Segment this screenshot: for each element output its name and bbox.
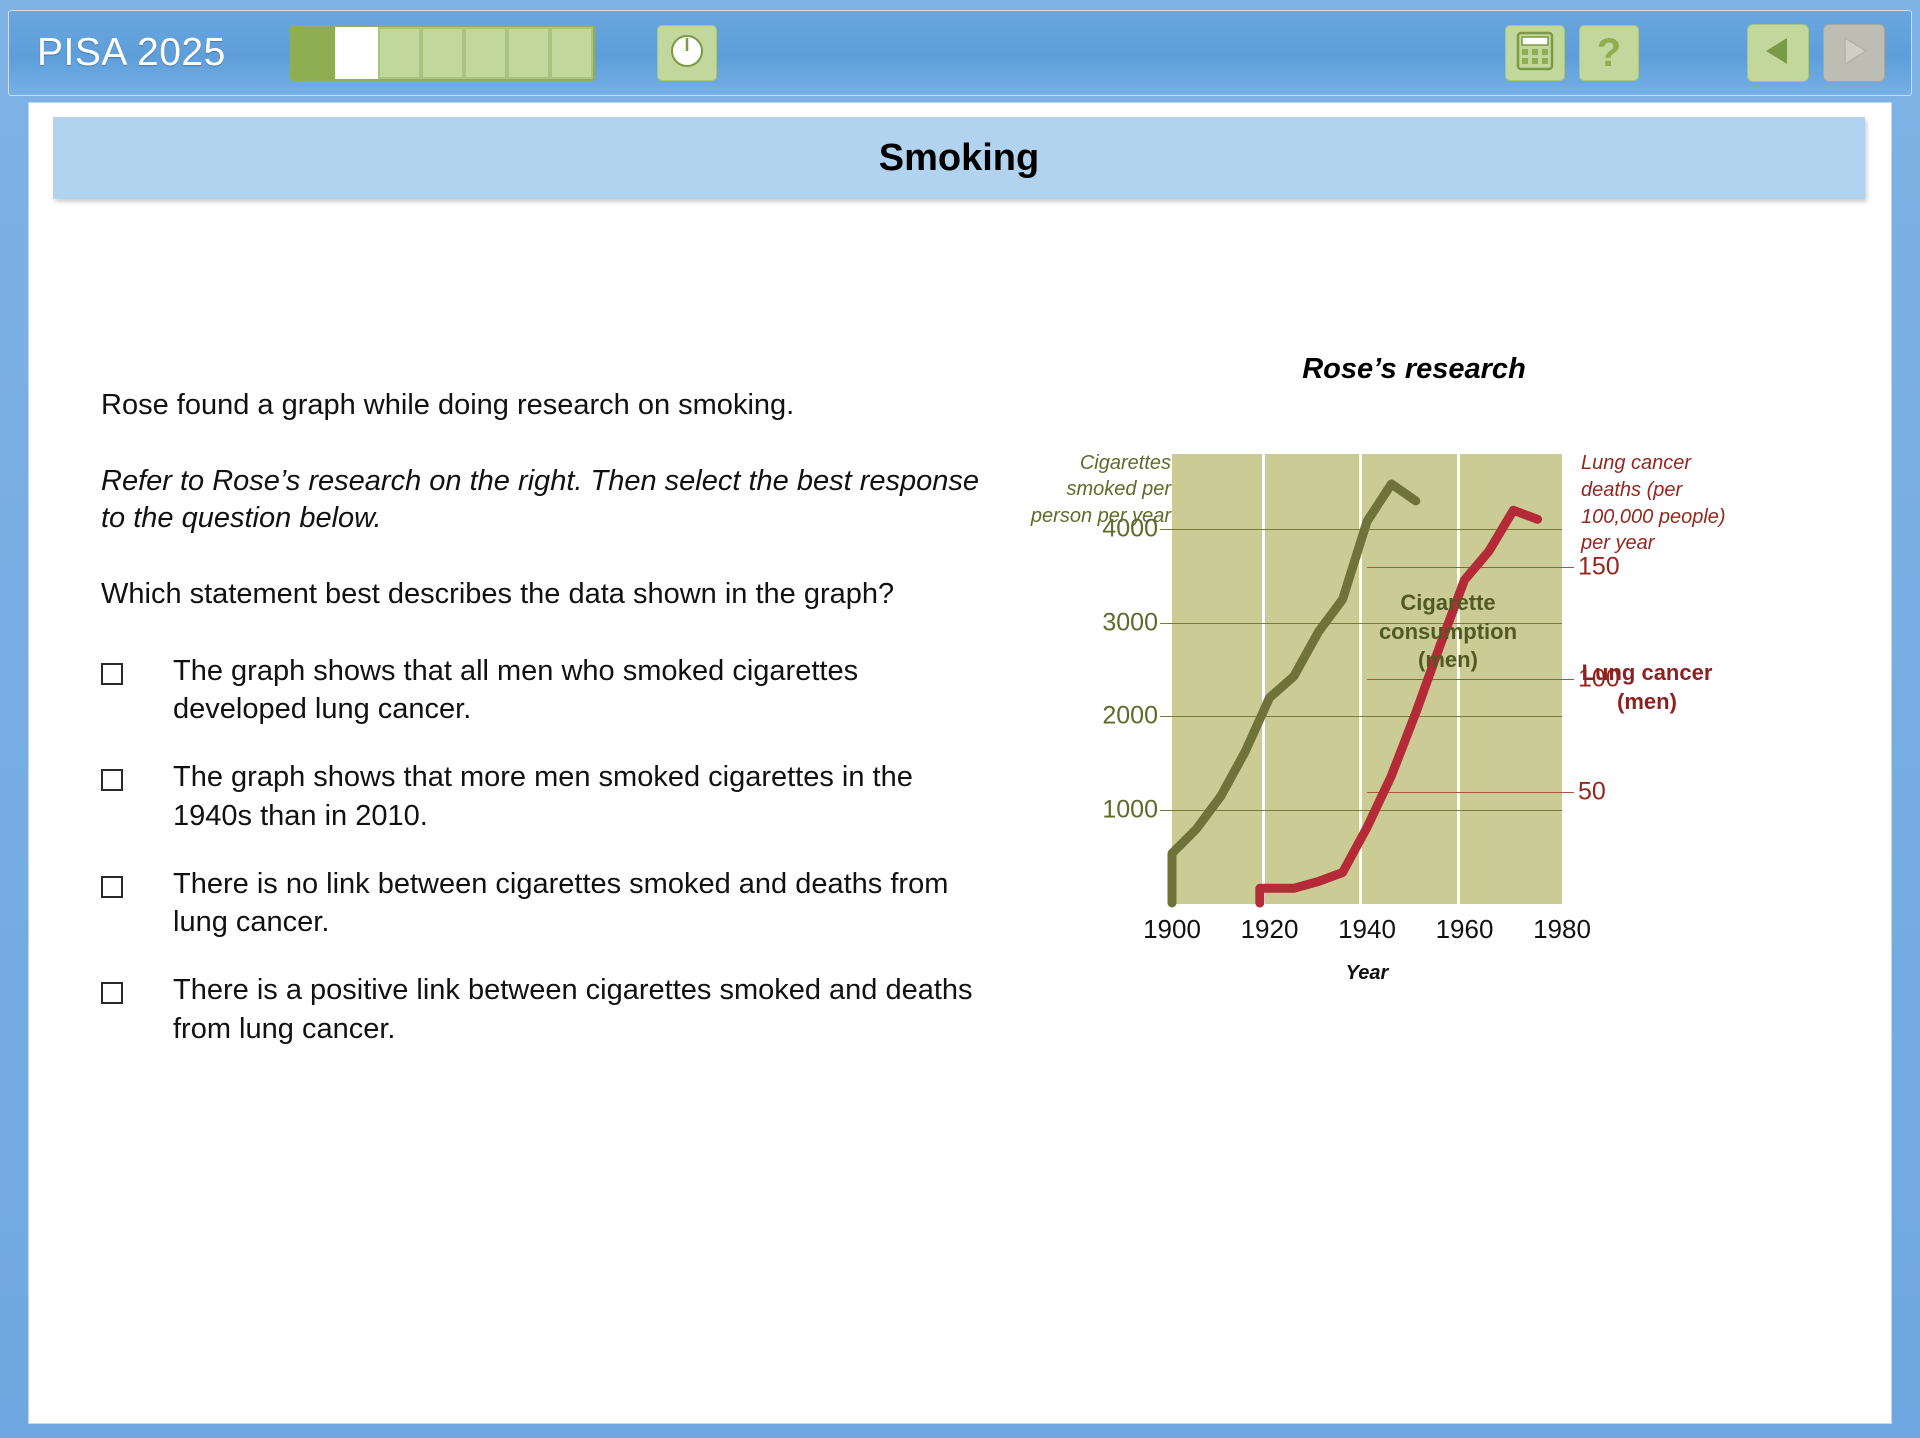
option-checkbox-b[interactable] <box>101 769 123 791</box>
series-lines <box>1172 454 1562 904</box>
option-checkbox-d[interactable] <box>101 982 123 1004</box>
stimulus-heading: Rose’s research <box>969 353 1859 386</box>
tick-right-150 <box>1562 567 1574 568</box>
ytick-label-left-3000: 3000 <box>1102 608 1158 637</box>
instruction-paragraph: Refer to Rose’s research on the right. T… <box>101 463 1001 538</box>
question-paragraph: Which statement best describes the data … <box>101 576 1001 614</box>
help-button[interactable]: ? <box>1579 25 1639 81</box>
tick-left-4000 <box>1160 529 1172 530</box>
tick-left-2000 <box>1160 716 1172 717</box>
right-axis-title: Lung cancer deaths (per 100,000 people) … <box>1581 450 1741 557</box>
tick-right-50 <box>1562 792 1574 793</box>
progress-segment-2-current <box>335 27 378 79</box>
series-label-cigarette-consumption: Cigarette consumption (men) <box>1353 589 1543 675</box>
content-page: Smoking Rose found a graph while doing r… <box>28 102 1892 1424</box>
ytick-label-right-50: 50 <box>1578 777 1606 806</box>
option-label-c: There is no link between cigarettes smok… <box>173 865 973 942</box>
unit-title-banner: Smoking <box>53 117 1865 199</box>
top-toolbar: PISA 2025 <box>8 10 1912 96</box>
timer-button[interactable] <box>657 25 717 81</box>
help-icon: ? <box>1597 33 1621 73</box>
x-axis-tick-labels: 1900 1920 1940 1960 1980 <box>1172 914 1562 954</box>
xtick-label-1980: 1980 <box>1533 914 1591 945</box>
ytick-label-left-2000: 2000 <box>1102 702 1158 731</box>
option-row-c[interactable]: There is no link between cigarettes smok… <box>101 865 1001 942</box>
question-column: Rose found a graph while doing research … <box>101 387 1001 1078</box>
xtick-label-1940: 1940 <box>1338 914 1396 945</box>
option-label-a: The graph shows that all men who smoked … <box>173 652 973 729</box>
option-checkbox-a[interactable] <box>101 663 123 685</box>
ytick-label-left-4000: 4000 <box>1102 515 1158 544</box>
intro-paragraph: Rose found a graph while doing research … <box>101 387 1001 425</box>
calculator-icon <box>1516 31 1554 76</box>
clock-icon <box>667 31 707 76</box>
progress-segment-7 <box>550 27 593 79</box>
progress-segment-4 <box>421 27 464 79</box>
stimulus-column: Rose’s research Cigarettes smoked per pe… <box>1029 353 1859 1173</box>
page-title: Smoking <box>879 137 1039 180</box>
xtick-label-1900: 1900 <box>1143 914 1201 945</box>
xtick-label-1960: 1960 <box>1436 914 1494 945</box>
progress-segment-3 <box>378 27 421 79</box>
x-axis-title: Year <box>1172 962 1562 985</box>
plot-area: 1000 2000 3000 4000 50 100 150 <box>1172 454 1562 904</box>
progress-indicator <box>290 25 595 81</box>
ytick-label-right-150: 150 <box>1578 552 1620 581</box>
xtick-label-1920: 1920 <box>1241 914 1299 945</box>
cigarette-consumption-line <box>1172 484 1416 903</box>
tick-left-1000 <box>1160 810 1172 811</box>
option-label-b: The graph shows that more men smoked cig… <box>173 758 973 835</box>
option-label-d: There is a positive link between cigaret… <box>173 971 973 1048</box>
ytick-label-left-1000: 1000 <box>1102 796 1158 825</box>
answer-options-list: The graph shows that all men who smoked … <box>101 652 1001 1048</box>
forward-arrow-icon <box>1836 33 1872 74</box>
back-arrow-icon <box>1760 33 1796 74</box>
option-row-d[interactable]: There is a positive link between cigaret… <box>101 971 1001 1048</box>
progress-segment-6 <box>507 27 550 79</box>
lung-cancer-line <box>1260 510 1538 903</box>
smoking-chart: Cigarettes smoked per person per year Lu… <box>1029 434 1859 1124</box>
option-row-a[interactable]: The graph shows that all men who smoked … <box>101 652 1001 729</box>
calculator-button[interactable] <box>1505 25 1565 81</box>
option-checkbox-c[interactable] <box>101 876 123 898</box>
progress-segment-1 <box>292 27 335 79</box>
application-frame: PISA 2025 <box>0 0 1920 1438</box>
previous-button[interactable] <box>1747 24 1809 82</box>
tick-left-3000 <box>1160 623 1172 624</box>
progress-segment-5 <box>464 27 507 79</box>
option-row-b[interactable]: The graph shows that more men smoked cig… <box>101 758 1001 835</box>
series-label-lung-cancer: Lung cancer (men) <box>1557 659 1737 716</box>
brand-title: PISA 2025 <box>37 31 226 75</box>
next-button[interactable] <box>1823 24 1885 82</box>
